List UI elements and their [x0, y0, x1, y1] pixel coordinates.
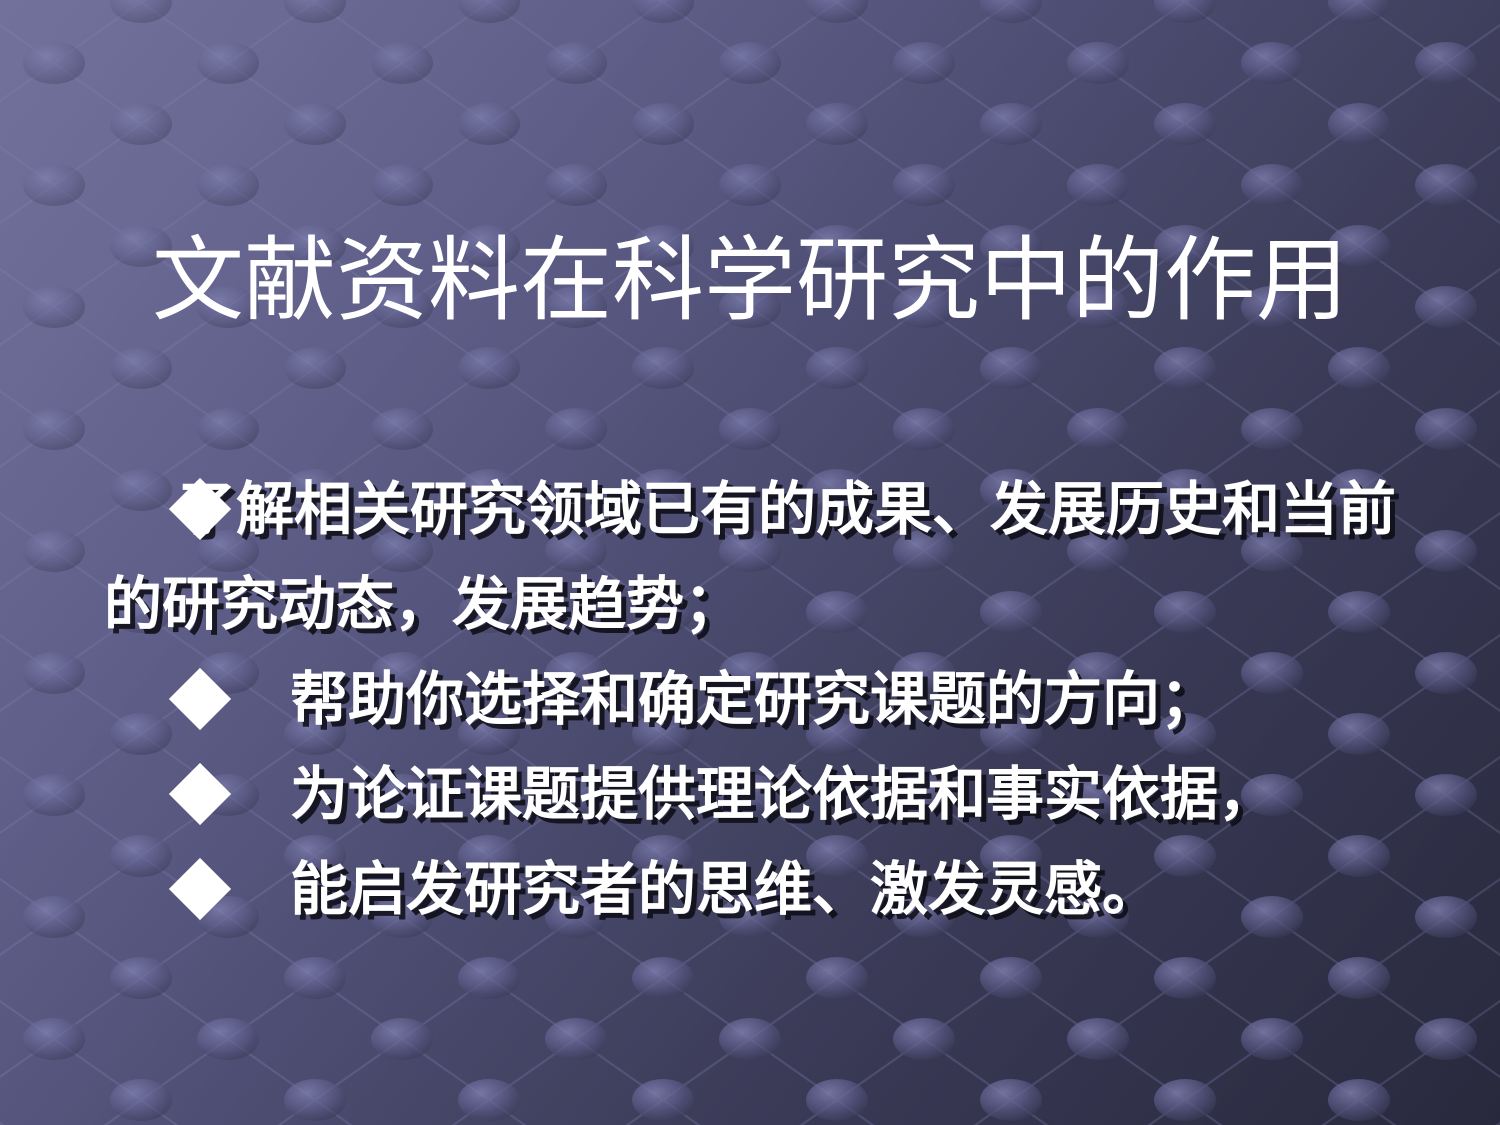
diamond-bullet-icon [169, 668, 231, 730]
list-item: 帮助你选择和确定研究课题的方向； [104, 652, 1434, 747]
slide-title: 文献资料在科学研究中的作用 [0, 232, 1500, 330]
list-item-label: 了解相关研究领域已有的成果、发展历史和当前的研究动态，发展趋势； [104, 475, 1396, 638]
list-item: 为论证课题提供理论依据和事实依据， [104, 747, 1434, 842]
list-item-label: 能启发研究者的思维、激发灵感。 [290, 855, 1160, 923]
diamond-bullet-icon [169, 858, 231, 920]
list-item: 能启发研究者的思维、激发灵感。 [104, 842, 1434, 937]
diamond-bullet-icon [169, 763, 231, 825]
presentation-slide: 文献资料在科学研究中的作用 了解相关研究领域已有的成果、发展历史和当前的研究动态… [0, 0, 1500, 1125]
list-item: 了解相关研究领域已有的成果、发展历史和当前的研究动态，发展趋势； [104, 462, 1434, 652]
list-item-label: 帮助你选择和确定研究课题的方向； [290, 665, 1218, 733]
list-item-label: 为论证课题提供理论依据和事实依据， [290, 760, 1276, 828]
bullet-list: 了解相关研究领域已有的成果、发展历史和当前的研究动态，发展趋势； 帮助你选择和确… [104, 462, 1434, 937]
